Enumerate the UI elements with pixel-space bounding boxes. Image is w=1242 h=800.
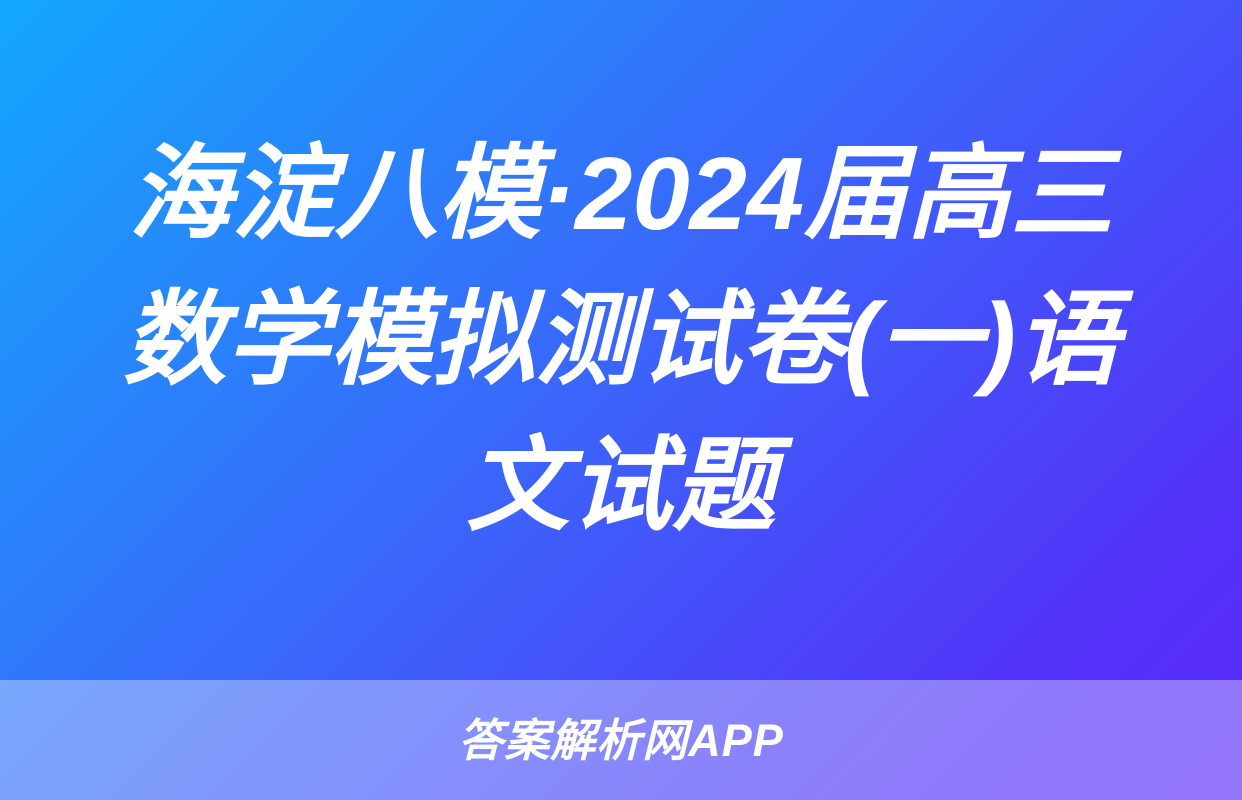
page-title: 海淀八模·2024届高三数学模拟测试卷(一)语文试题 <box>79 121 1164 560</box>
title-block: 海淀八模·2024届高三数学模拟测试卷(一)语文试题 <box>0 0 1242 680</box>
app-watermark-band: 答案解析网APP <box>0 680 1242 800</box>
poster-card: 海淀八模·2024届高三数学模拟测试卷(一)语文试题 答案解析网APP <box>0 0 1242 800</box>
app-watermark-label: 答案解析网APP <box>458 718 784 763</box>
